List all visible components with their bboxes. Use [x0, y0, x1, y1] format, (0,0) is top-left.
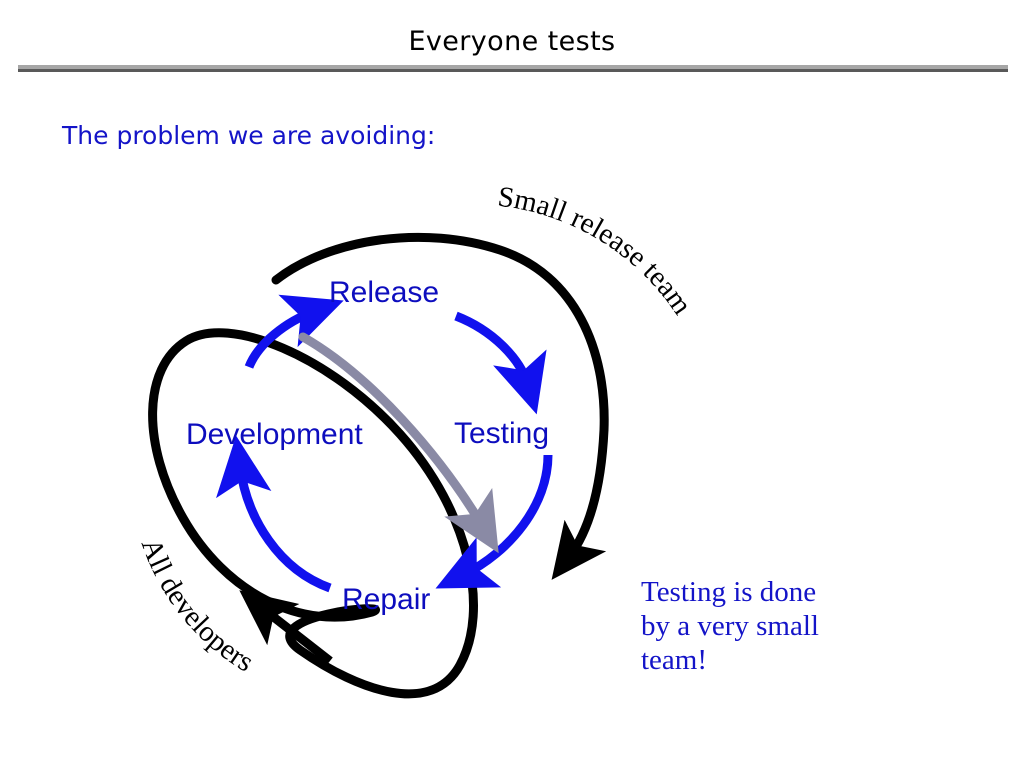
small-release-team-caption: Small release team — [496, 181, 698, 321]
node-label-testing: Testing — [454, 417, 549, 451]
node-label-repair: Repair — [342, 583, 430, 617]
arrow-release-to-testing[interactable] — [456, 316, 528, 385]
node-label-development: Development — [186, 418, 363, 452]
all-developers-caption-text: All developers — [135, 534, 259, 678]
callout-line-3: team! — [641, 643, 819, 677]
callout-line-1: Testing is done — [641, 575, 819, 609]
cycle-diagram: Small release team All developers — [0, 0, 1024, 768]
all-developers-caption: All developers — [135, 534, 259, 678]
callout-text-block: Testing is done by a very small team! — [641, 575, 819, 677]
callout-line-2: by a very small — [641, 609, 819, 643]
boundary-all-developers: All developers — [135, 333, 474, 694]
node-label-release: Release — [329, 276, 439, 310]
small-release-team-arc — [276, 237, 604, 557]
boundary-small-release-team: Small release team — [276, 181, 698, 557]
small-release-team-caption-text: Small release team — [496, 181, 698, 321]
arrow-repair-to-development[interactable] — [240, 466, 330, 588]
